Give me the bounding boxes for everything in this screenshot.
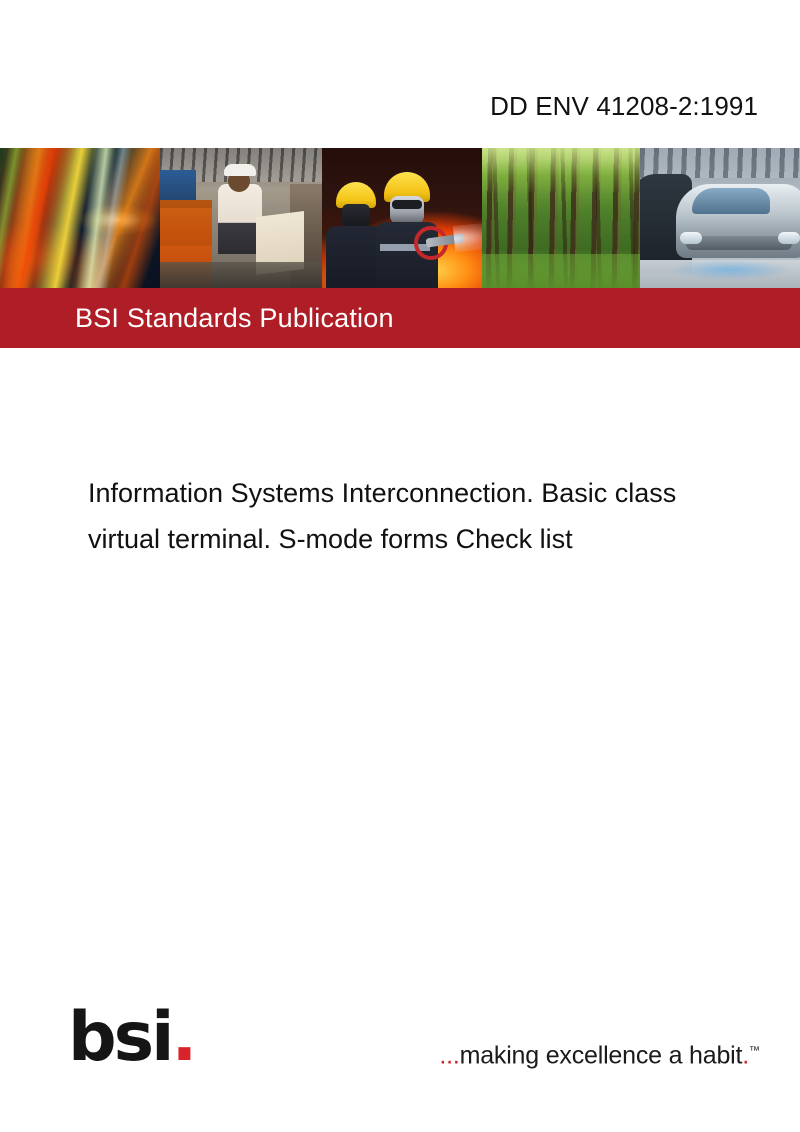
document-title-line-2: virtual terminal. S-mode forms Check lis… [88, 516, 800, 562]
document-number: DD ENV 41208-2:1991 [490, 90, 758, 122]
document-title: Information Systems Interconnection. Bas… [88, 470, 800, 562]
firefighters-photo [322, 148, 482, 288]
warehouse-worker-cap [224, 164, 256, 176]
firefighter-visor-right [392, 200, 422, 209]
car-assembly-photo [640, 148, 800, 288]
firefighter-face-left [342, 204, 370, 228]
bsi-logo-text: bsi [68, 998, 171, 1077]
cover-banner: BSI Standards Publication [0, 148, 800, 348]
forest-photo [482, 148, 640, 288]
warehouse-crate-blue [160, 170, 196, 204]
bsi-logo: bsi. [68, 1004, 194, 1072]
publication-bar: BSI Standards Publication [0, 288, 800, 348]
water-spray [453, 222, 482, 252]
warehouse-worker-photo [160, 148, 322, 288]
bsi-tagline: ...making excellence a habit.™ [439, 1036, 760, 1070]
car-windscreen [692, 188, 770, 214]
light-trails-traffic-photo [0, 148, 160, 288]
tagline-text: making excellence a habit [460, 1041, 743, 1069]
car-headlamp-right [778, 232, 800, 244]
tagline-period: . [742, 1041, 749, 1069]
publication-label: BSI Standards Publication [75, 302, 394, 334]
document-title-line-1: Information Systems Interconnection. Bas… [88, 470, 800, 516]
bsi-logo-dot: . [171, 998, 194, 1077]
car-headlamp-left [680, 232, 702, 244]
forest-canopy [482, 148, 640, 194]
banner-image-strip [0, 148, 800, 288]
trademark-icon: ™ [749, 1045, 760, 1057]
tagline-ellipsis: ... [439, 1041, 459, 1069]
car-floor-reflection [670, 260, 790, 280]
warehouse-floor [160, 262, 322, 288]
forest-undergrowth [482, 254, 640, 288]
